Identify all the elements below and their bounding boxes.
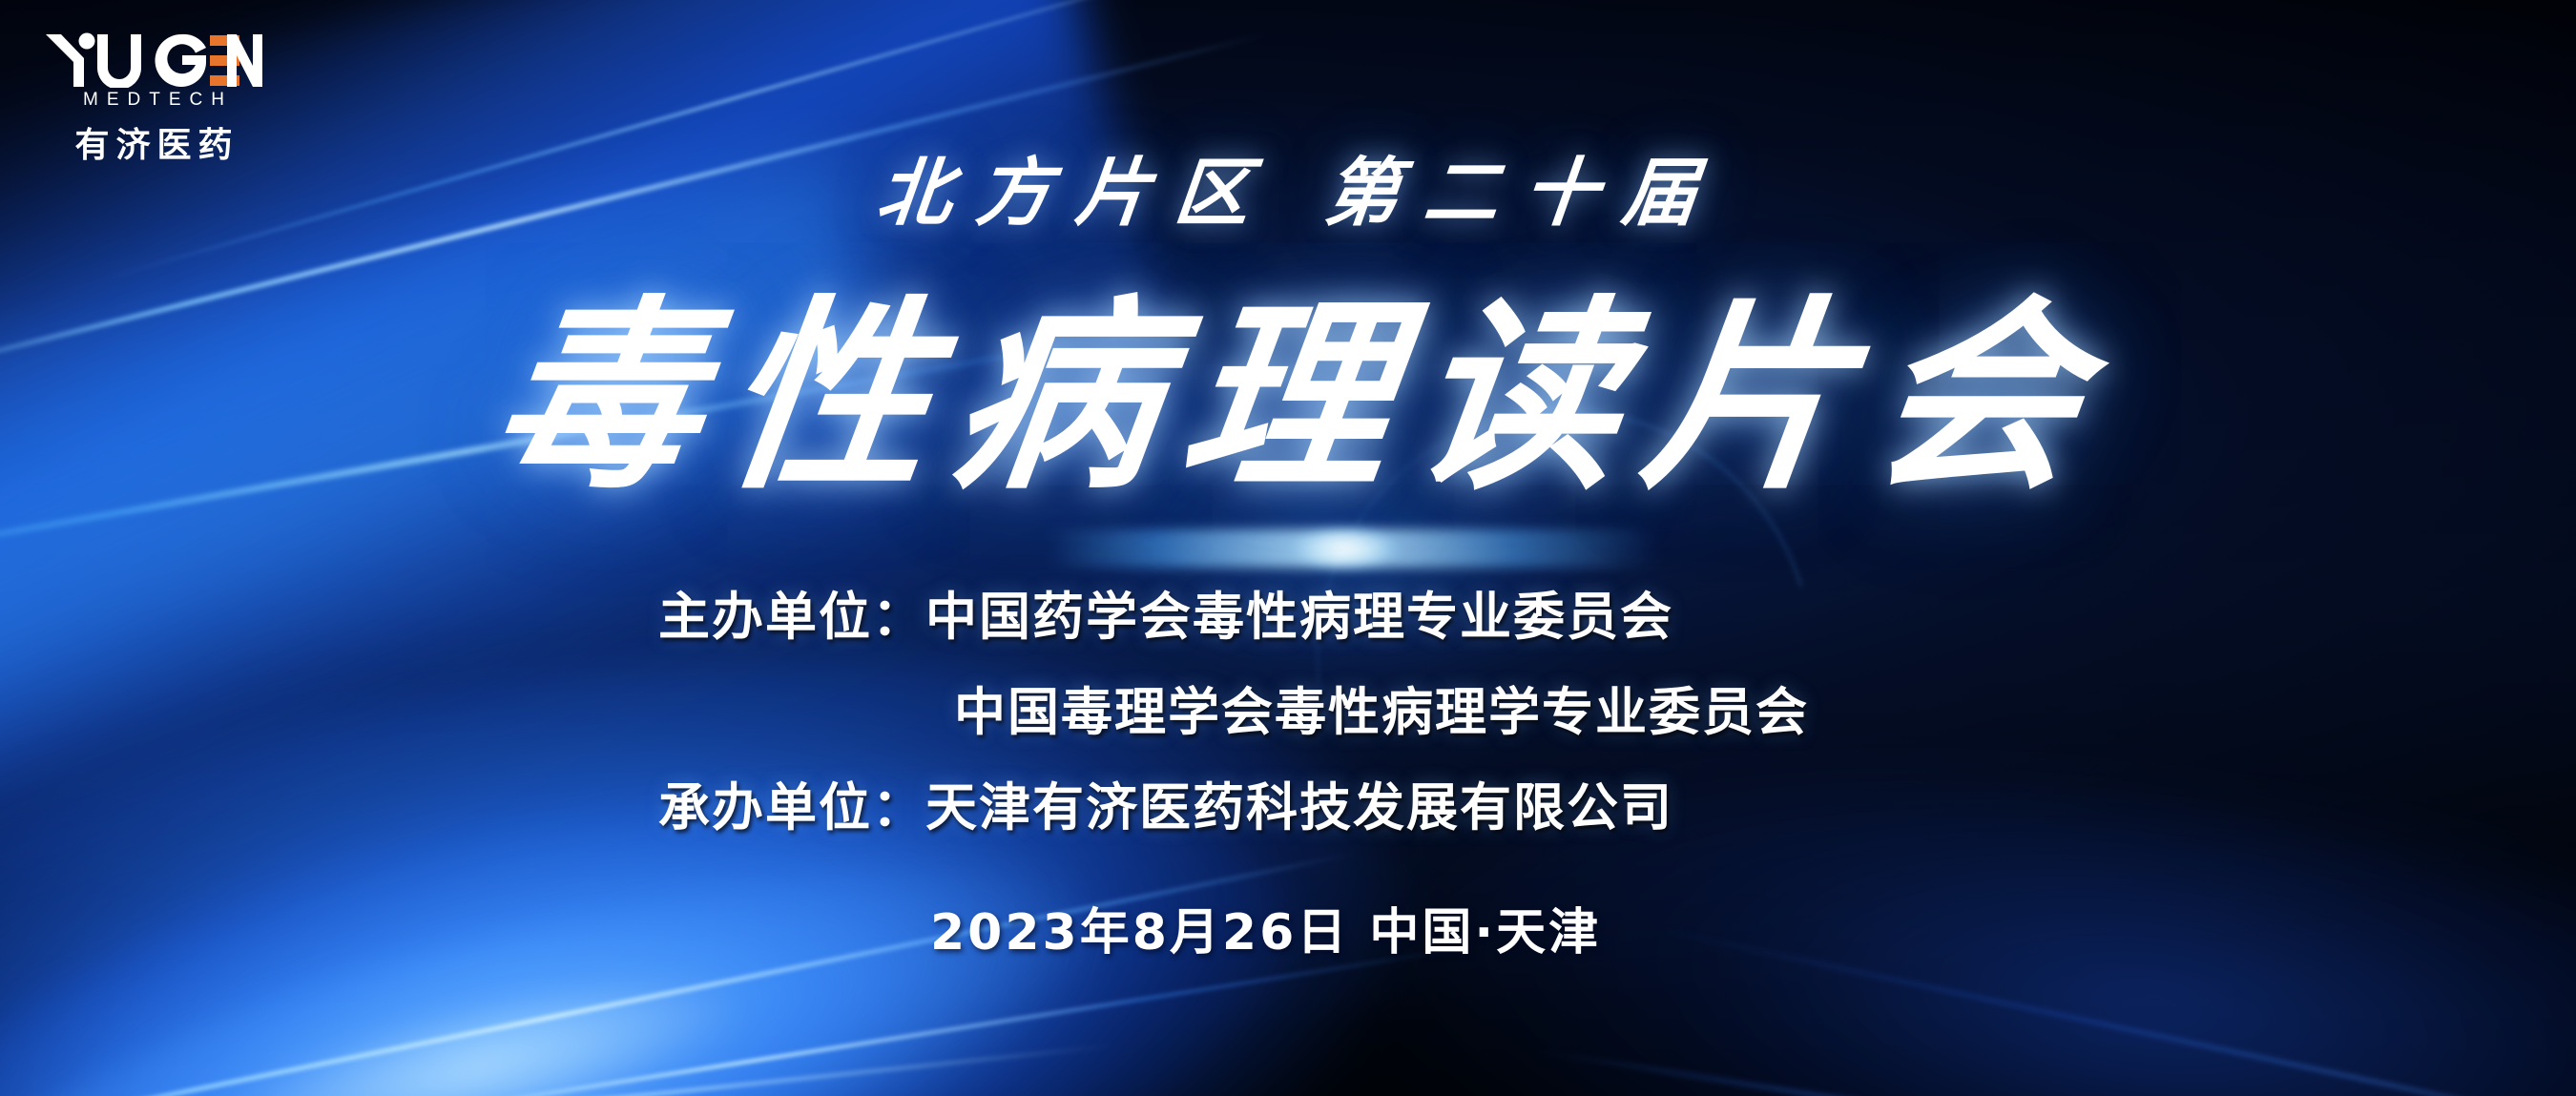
brand-tagline: MEDTECH bbox=[44, 90, 263, 111]
event-banner: MEDTECH 有济医药 北方片区 第二十届 毒性病理读片会 主办单位：中国药学… bbox=[0, 0, 2576, 1096]
brand-logo: MEDTECH 有济医药 bbox=[44, 31, 263, 167]
event-title: 毒性病理读片会 bbox=[0, 286, 2576, 507]
banner-content: 北方片区 第二十届 毒性病理读片会 主办单位：中国药学会毒性病理专业委员会 中国… bbox=[0, 0, 2576, 1096]
organizer-block: 主办单位：中国药学会毒性病理专业委员会 中国毒理学会毒性病理学专业委员会 承办单… bbox=[658, 591, 1994, 878]
organizer-line-host: 主办单位：中国药学会毒性病理专业委员会 bbox=[658, 591, 1994, 643]
event-date-location: 2023年8月26日 中国·天津 bbox=[930, 892, 1601, 963]
event-kicker: 北方片区 第二十届 bbox=[0, 134, 2576, 240]
brand-chinese-name: 有济医药 bbox=[44, 117, 263, 167]
organizer-line-undertaker: 承办单位：天津有济医药科技发展有限公司 bbox=[658, 782, 1994, 834]
organizer-line-cohost: 中国毒理学会毒性病理学专业委员会 bbox=[658, 687, 1994, 738]
yugen-person-y-logo-icon bbox=[44, 31, 263, 88]
